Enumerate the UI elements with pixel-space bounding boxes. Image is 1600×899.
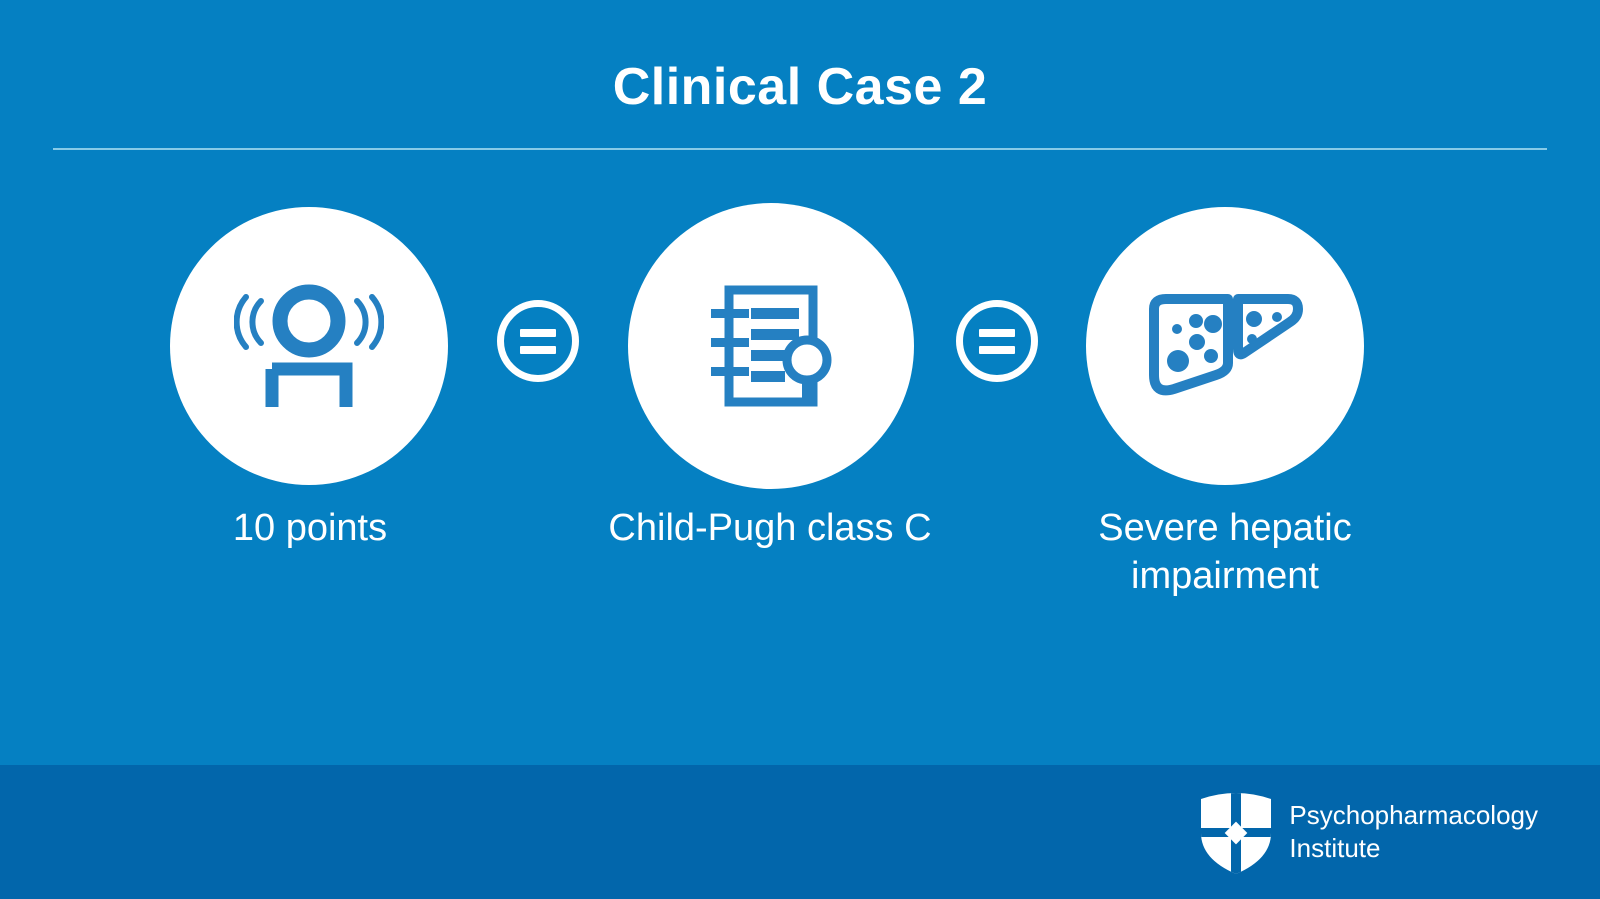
caption-line-1: 10 points <box>233 507 387 549</box>
brand-line-2: Institute <box>1289 832 1538 865</box>
caption-line-1: Severe hepatic <box>1098 507 1352 549</box>
equals-bar-bottom <box>979 346 1015 354</box>
person-confusion-icon <box>234 281 384 411</box>
flow-row <box>0 200 1600 500</box>
equals-bar-bottom <box>520 346 556 354</box>
flow-step-1-caption: 10 points <box>130 505 490 553</box>
notebook-magnifier-icon <box>701 276 841 416</box>
liver-icon <box>1140 291 1310 401</box>
caption-line-1: Child-Pugh class C <box>608 507 931 549</box>
equals-bar-top <box>979 329 1015 337</box>
equals-icon-2 <box>956 300 1038 382</box>
equals-icon-1 <box>497 300 579 382</box>
slide: Clinical Case 2 <box>0 0 1600 899</box>
flow-step-2-circle <box>628 203 914 489</box>
brand-lockup: Psychopharmacology Institute <box>1199 789 1538 875</box>
flow-step-3-caption: Severe hepatic impairment <box>1050 505 1400 601</box>
brand-name: Psychopharmacology Institute <box>1289 799 1538 866</box>
footer-bar: Psychopharmacology Institute <box>0 765 1600 899</box>
title-divider <box>53 148 1547 150</box>
flow-step-3-circle <box>1086 207 1364 485</box>
flow-step-1-circle <box>170 207 448 485</box>
brand-line-1: Psychopharmacology <box>1289 800 1538 830</box>
page-title: Clinical Case 2 <box>0 60 1600 115</box>
equals-bar-top <box>520 329 556 337</box>
caption-line-2: impairment <box>1131 555 1319 597</box>
shield-logo-icon <box>1199 789 1273 875</box>
title-area: Clinical Case 2 <box>0 60 1600 115</box>
flow-step-2-caption: Child-Pugh class C <box>580 505 960 553</box>
